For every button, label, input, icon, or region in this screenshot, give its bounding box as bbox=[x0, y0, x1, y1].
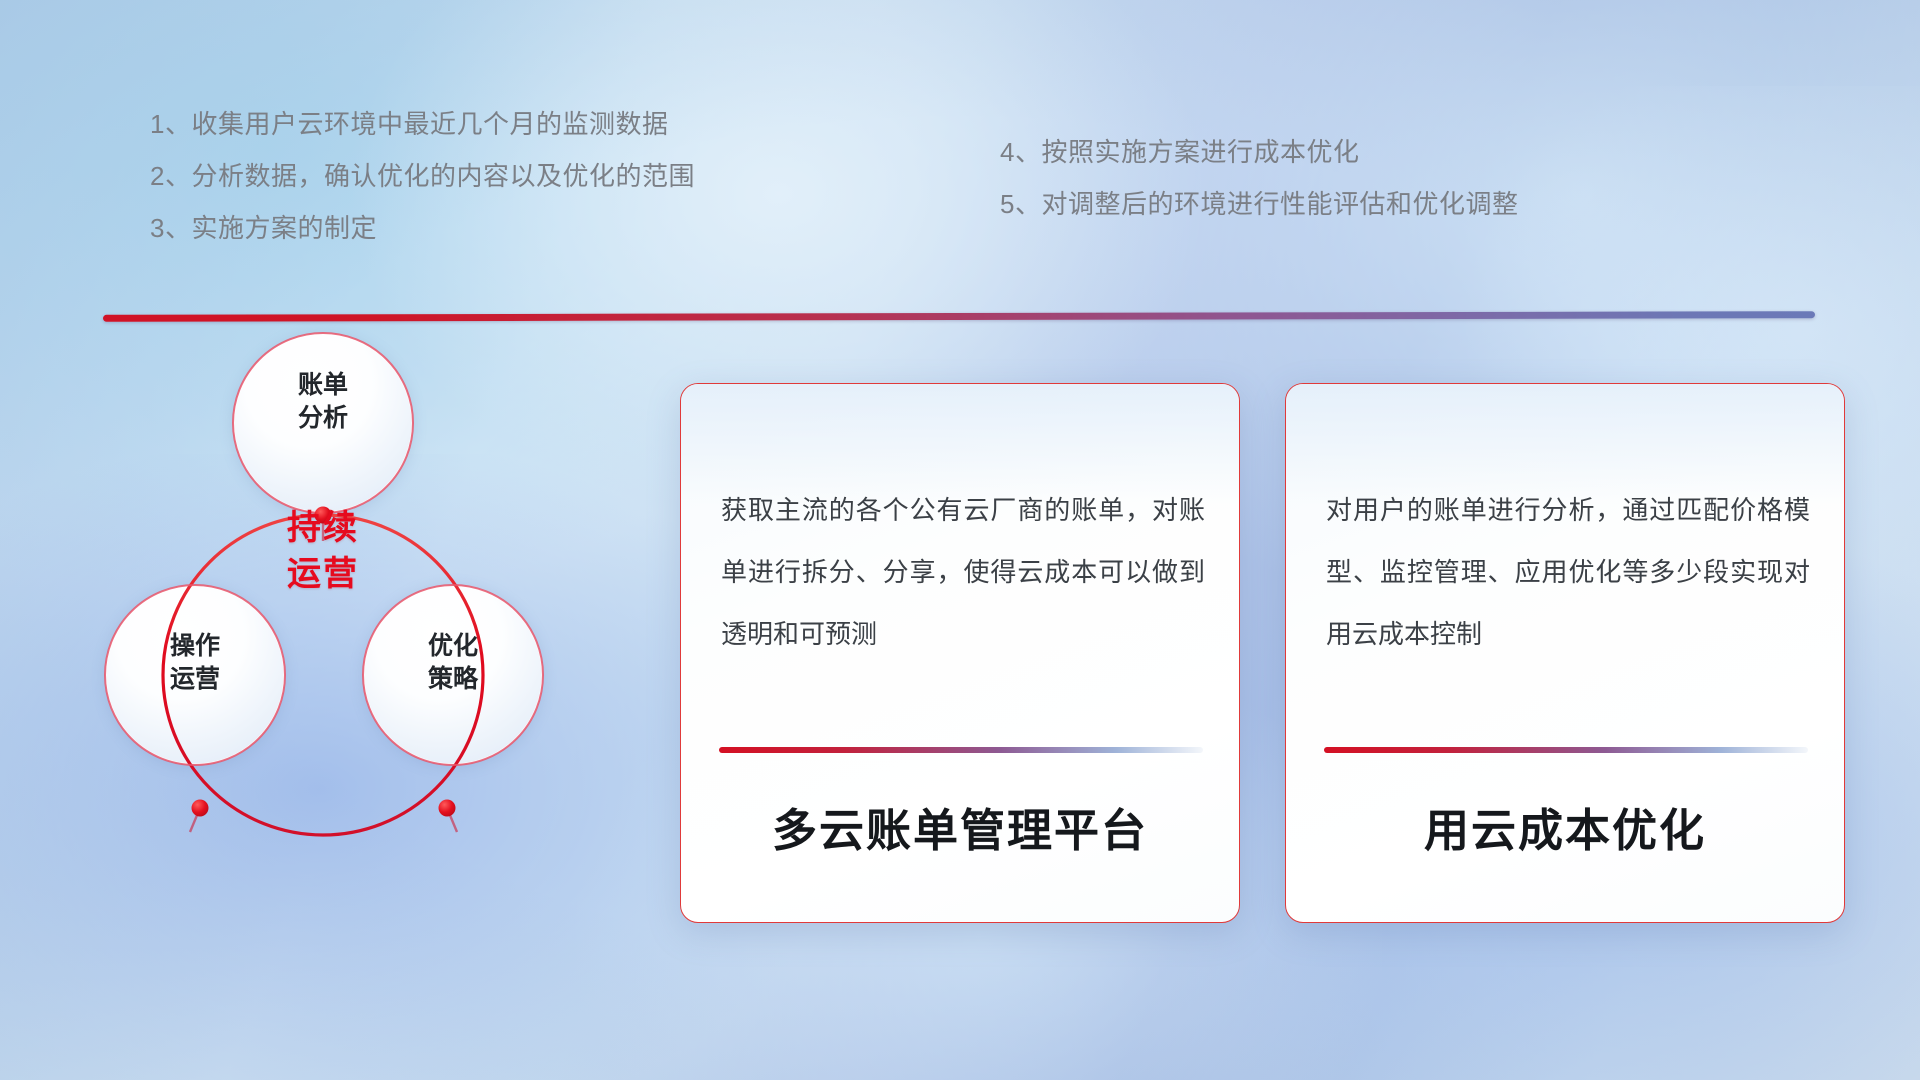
venn-label-operations-line-2: 运营 bbox=[105, 663, 285, 696]
venn-label-bill-analysis: 账单 分析 bbox=[233, 369, 413, 435]
venn-label-optimization: 优化 策略 bbox=[363, 630, 543, 696]
feature-card-bill-platform-title: 多云账单管理平台 bbox=[681, 794, 1239, 859]
feature-card-cost-optimization-body: 对用户的账单进行分析，通过匹配价格模型、监控管理、应用优化等多少段实现对用云成本… bbox=[1326, 479, 1810, 665]
step-item-2: 2、分析数据，确认优化的内容以及优化的范围 bbox=[150, 150, 695, 202]
venn-center-label-line-2: 运营 bbox=[233, 551, 413, 597]
feature-card-bill-platform-rule bbox=[719, 747, 1203, 753]
venn-label-operations-line-1: 操作 bbox=[105, 630, 285, 663]
venn-label-bill-analysis-line-2: 分析 bbox=[233, 402, 413, 435]
steps-list-left: 1、收集用户云环境中最近几个月的监测数据 2、分析数据，确认优化的内容以及优化的… bbox=[150, 98, 695, 254]
venn-label-optimization-line-1: 优化 bbox=[363, 630, 543, 663]
feature-card-bill-platform[interactable]: 获取主流的各个公有云厂商的账单，对账单进行拆分、分享，使得云成本可以做到透明和可… bbox=[680, 383, 1240, 923]
venn-label-bill-analysis-line-1: 账单 bbox=[233, 369, 413, 402]
venn-center-label-line-1: 持续 bbox=[233, 505, 413, 551]
venn-label-operations: 操作 运营 bbox=[105, 630, 285, 696]
feature-card-cost-optimization[interactable]: 对用户的账单进行分析，通过匹配价格模型、监控管理、应用优化等多少段实现对用云成本… bbox=[1285, 383, 1845, 923]
step-item-1: 1、收集用户云环境中最近几个月的监测数据 bbox=[150, 98, 695, 150]
feature-card-cost-optimization-rule bbox=[1324, 747, 1808, 753]
feature-card-cost-optimization-title: 用云成本优化 bbox=[1286, 794, 1844, 859]
step-item-4: 4、按照实施方案进行成本优化 bbox=[1000, 126, 1518, 178]
venn-node-dot-left bbox=[192, 800, 209, 817]
continuous-operation-diagram: 账单 分析 操作 运营 优化 策略 持续 运营 bbox=[95, 345, 575, 945]
feature-card-bill-platform-body: 获取主流的各个公有云厂商的账单，对账单进行拆分、分享，使得云成本可以做到透明和可… bbox=[721, 479, 1205, 665]
venn-node-dot-right bbox=[439, 800, 456, 817]
steps-list-right: 4、按照实施方案进行成本优化 5、对调整后的环境进行性能评估和优化调整 bbox=[1000, 126, 1518, 230]
step-item-3: 3、实施方案的制定 bbox=[150, 202, 695, 254]
venn-center-label: 持续 运营 bbox=[233, 505, 413, 597]
step-item-5: 5、对调整后的环境进行性能评估和优化调整 bbox=[1000, 178, 1518, 230]
venn-label-optimization-line-2: 策略 bbox=[363, 663, 543, 696]
